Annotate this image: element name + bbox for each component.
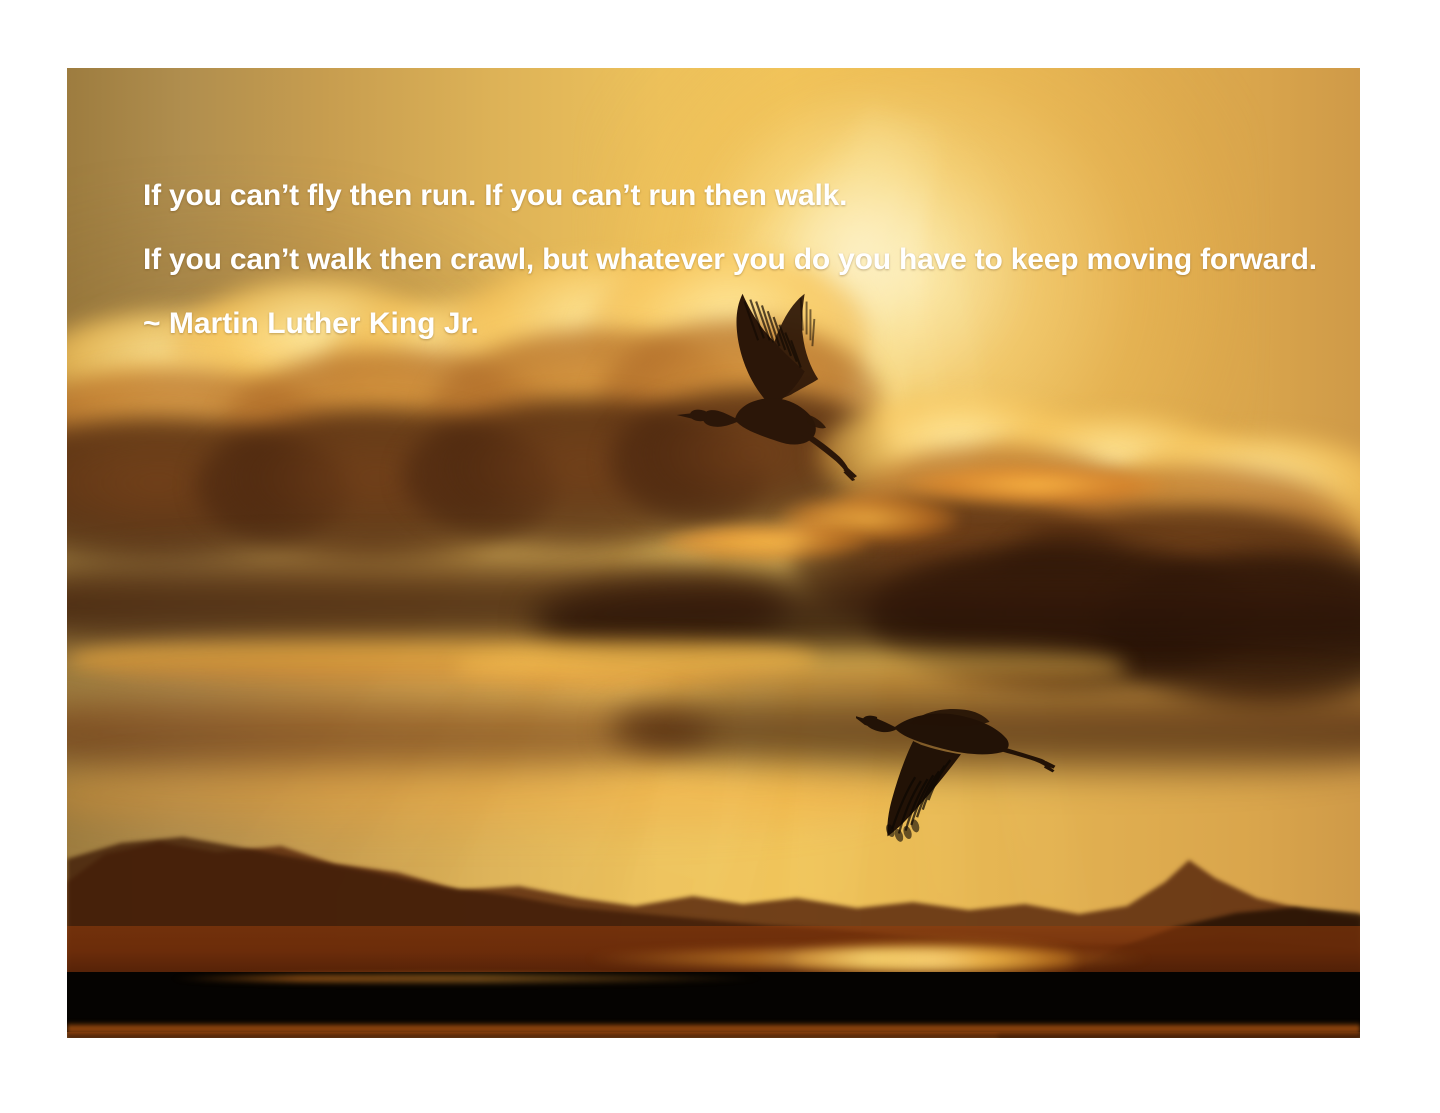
sunset-egrets-photo: If you can’t fly then run. If you can’t … (67, 68, 1360, 1038)
shoreline-glimmer (170, 974, 765, 983)
sun-reflection-spread (584, 949, 1153, 968)
quote-attribution: ~ Martin Luther King Jr. (143, 292, 1360, 356)
cloud-ember (907, 466, 1166, 505)
motivational-quote: If you can’t fly then run. If you can’t … (143, 164, 1360, 356)
bottom-water-strip (67, 1022, 1360, 1038)
quote-line-1: If you can’t fly then run. If you can’t … (143, 164, 1360, 228)
slide-canvas: If you can’t fly then run. If you can’t … (0, 0, 1440, 1113)
quote-line-2: If you can’t walk then crawl, but whatev… (143, 228, 1360, 292)
egret-lower (856, 684, 1056, 878)
